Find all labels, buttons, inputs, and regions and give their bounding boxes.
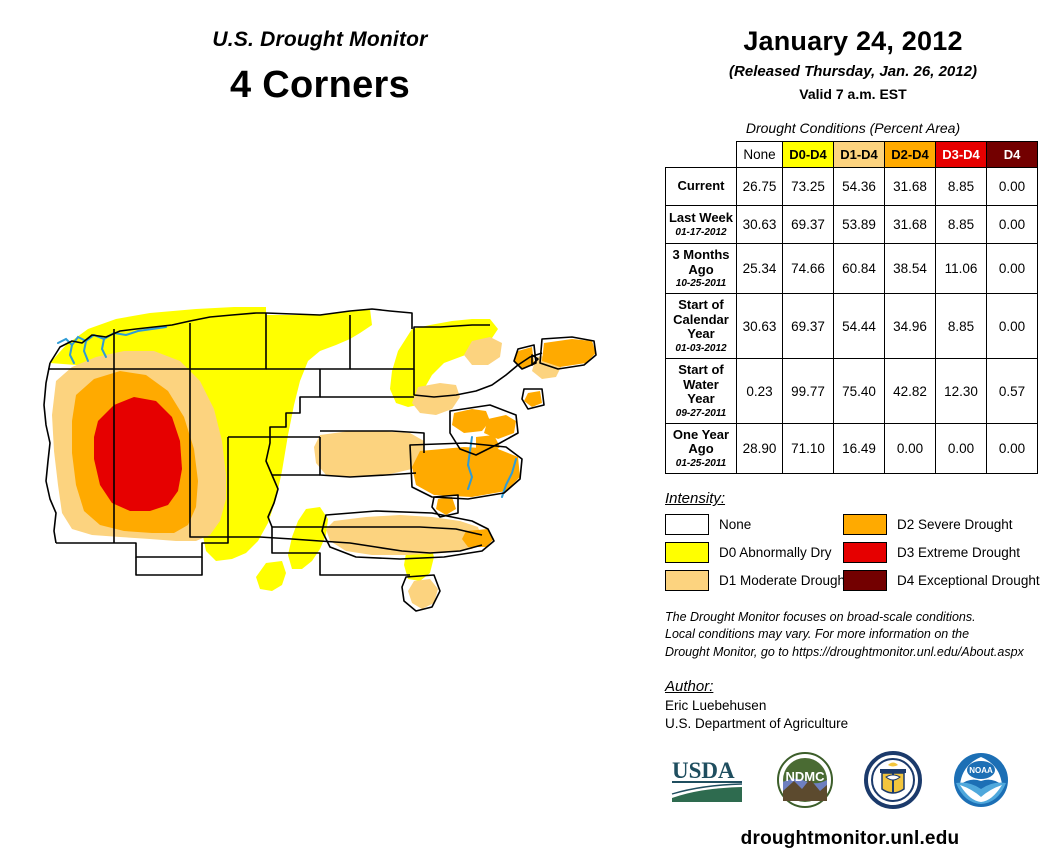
legend-grid: NoneD2 Severe DroughtD0 Abnormally DryD3… bbox=[665, 514, 1046, 591]
table-cell: 26.75 bbox=[737, 168, 783, 206]
author-heading: Author: bbox=[665, 678, 1046, 695]
legend-item: D1 Moderate Drought bbox=[665, 570, 843, 591]
header-d0-d4: D0-D4 bbox=[783, 142, 834, 168]
intensity-heading: Intensity: bbox=[665, 490, 1046, 507]
table-cell: 25.34 bbox=[737, 244, 783, 294]
table-cell: 75.40 bbox=[834, 359, 885, 424]
noaa-logo: NOAA bbox=[952, 751, 1010, 814]
header-blank-cell bbox=[666, 142, 737, 168]
legend-label: D0 Abnormally Dry bbox=[719, 545, 832, 560]
table-cell: 0.00 bbox=[936, 423, 987, 473]
legend-item: D2 Severe Drought bbox=[843, 514, 1043, 535]
row-label-name: One Year Ago bbox=[668, 428, 734, 457]
legend-label: None bbox=[719, 517, 751, 532]
table-cell: 12.30 bbox=[936, 359, 987, 424]
page-title: 4 Corners bbox=[0, 64, 640, 107]
table-cell: 69.37 bbox=[783, 294, 834, 359]
header-d3-d4: D3-D4 bbox=[936, 142, 987, 168]
legend-swatch bbox=[843, 542, 887, 563]
legend-item: D4 Exceptional Drought bbox=[843, 570, 1043, 591]
date-block: January 24, 2012 (Released Thursday, Jan… bbox=[660, 26, 1046, 102]
legend-item: D0 Abnormally Dry bbox=[665, 542, 843, 563]
row-label: Start ofWater Year09-27-2011 bbox=[666, 359, 737, 424]
table-cell: 0.00 bbox=[987, 168, 1038, 206]
table-cell: 0.00 bbox=[987, 423, 1038, 473]
legend-label: D1 Moderate Drought bbox=[719, 573, 849, 588]
table-cell: 42.82 bbox=[885, 359, 936, 424]
release-date: (Released Thursday, Jan. 26, 2012) bbox=[660, 63, 1046, 80]
table-cell: 0.57 bbox=[987, 359, 1038, 424]
row-label-date: 01-17-2012 bbox=[668, 227, 734, 238]
legend-label: D2 Severe Drought bbox=[897, 517, 1013, 532]
table-cell: 69.37 bbox=[783, 206, 834, 244]
row-label-date: 01-03-2012 bbox=[668, 343, 734, 354]
table-cell: 0.23 bbox=[737, 359, 783, 424]
row-label-name: Start ofCalendar Year bbox=[668, 298, 734, 342]
drought-map-svg bbox=[20, 285, 650, 645]
table-cell: 38.54 bbox=[885, 244, 936, 294]
table-cell: 54.36 bbox=[834, 168, 885, 206]
table-cell: 30.63 bbox=[737, 294, 783, 359]
row-label: 3 Months Ago10-25-2011 bbox=[666, 244, 737, 294]
table-cell: 0.00 bbox=[987, 294, 1038, 359]
table-cell: 60.84 bbox=[834, 244, 885, 294]
row-label-date: 10-25-2011 bbox=[668, 278, 734, 289]
commerce-seal bbox=[864, 751, 922, 814]
table-cell: 8.85 bbox=[936, 168, 987, 206]
ndmc-logo: NDMC bbox=[776, 751, 834, 814]
table-cell: 11.06 bbox=[936, 244, 987, 294]
usda-logo: USDA bbox=[670, 754, 746, 811]
site-url: droughtmonitor.unl.edu bbox=[665, 828, 1035, 850]
row-label-name: Start ofWater Year bbox=[668, 363, 734, 407]
row-label-name: 3 Months Ago bbox=[668, 248, 734, 277]
table-cell: 99.77 bbox=[783, 359, 834, 424]
legend-swatch bbox=[665, 570, 709, 591]
table-cell: 34.96 bbox=[885, 294, 936, 359]
header-d4: D4 bbox=[987, 142, 1038, 168]
page-subtitle: U.S. Drought Monitor bbox=[0, 28, 640, 52]
legend-swatch bbox=[843, 570, 887, 591]
header-none: None bbox=[737, 142, 783, 168]
table-row: Start ofWater Year09-27-20110.2399.7775.… bbox=[666, 359, 1038, 424]
header-d2-d4: D2-D4 bbox=[885, 142, 936, 168]
table-cell: 53.89 bbox=[834, 206, 885, 244]
svg-text:NDMC: NDMC bbox=[786, 769, 826, 784]
legend-label: D4 Exceptional Drought bbox=[897, 573, 1040, 588]
table-row: Last Week01-17-201230.6369.3753.8931.688… bbox=[666, 206, 1038, 244]
drought-map bbox=[20, 285, 650, 645]
table-header-row: None D0-D4 D1-D4 D2-D4 D3-D4 D4 bbox=[666, 142, 1038, 168]
row-label-date: 01-25-2011 bbox=[668, 458, 734, 469]
row-label: One Year Ago01-25-2011 bbox=[666, 423, 737, 473]
table-cell: 0.00 bbox=[987, 244, 1038, 294]
drought-conditions-table: None D0-D4 D1-D4 D2-D4 D3-D4 D4 Current2… bbox=[665, 141, 1038, 474]
map-date: January 24, 2012 bbox=[660, 26, 1046, 57]
table-cell: 31.68 bbox=[885, 206, 936, 244]
table-row: Start ofCalendar Year01-03-201230.6369.3… bbox=[666, 294, 1038, 359]
disclaimer-text: The Drought Monitor focuses on broad-sca… bbox=[665, 609, 1046, 661]
header-d1-d4: D1-D4 bbox=[834, 142, 885, 168]
legend-item: None bbox=[665, 514, 843, 535]
row-label-name: Last Week bbox=[668, 211, 734, 226]
table-cell: 8.85 bbox=[936, 206, 987, 244]
legend-item: D3 Extreme Drought bbox=[843, 542, 1043, 563]
row-label-name: Current bbox=[668, 179, 734, 194]
author-org: U.S. Department of Agriculture bbox=[665, 716, 1046, 731]
table-caption: Drought Conditions (Percent Area) bbox=[660, 120, 1046, 136]
table-cell: 54.44 bbox=[834, 294, 885, 359]
svg-text:USDA: USDA bbox=[672, 758, 735, 783]
agency-logos: USDA NDMC bbox=[670, 751, 1010, 814]
valid-time: Valid 7 a.m. EST bbox=[660, 86, 1046, 102]
table-row: One Year Ago01-25-201128.9071.1016.490.0… bbox=[666, 423, 1038, 473]
table-body: Current26.7573.2554.3631.688.850.00Last … bbox=[666, 168, 1038, 474]
table-cell: 0.00 bbox=[885, 423, 936, 473]
legend-label: D3 Extreme Drought bbox=[897, 545, 1020, 560]
svg-text:NOAA: NOAA bbox=[969, 766, 993, 775]
row-label-date: 09-27-2011 bbox=[668, 408, 734, 419]
row-label: Current bbox=[666, 168, 737, 206]
legend-swatch bbox=[665, 514, 709, 535]
author-name: Eric Luebehusen bbox=[665, 698, 1046, 713]
table-cell: 74.66 bbox=[783, 244, 834, 294]
row-label: Start ofCalendar Year01-03-2012 bbox=[666, 294, 737, 359]
table-row: Current26.7573.2554.3631.688.850.00 bbox=[666, 168, 1038, 206]
table-cell: 31.68 bbox=[885, 168, 936, 206]
legend-swatch bbox=[843, 514, 887, 535]
table-cell: 73.25 bbox=[783, 168, 834, 206]
table-cell: 30.63 bbox=[737, 206, 783, 244]
table-row: 3 Months Ago10-25-201125.3474.6660.8438.… bbox=[666, 244, 1038, 294]
table-cell: 16.49 bbox=[834, 423, 885, 473]
title-block: U.S. Drought Monitor 4 Corners bbox=[0, 28, 640, 107]
legend-swatch bbox=[665, 542, 709, 563]
right-panel: January 24, 2012 (Released Thursday, Jan… bbox=[660, 26, 1046, 850]
table-cell: 71.10 bbox=[783, 423, 834, 473]
table-cell: 0.00 bbox=[987, 206, 1038, 244]
table-cell: 8.85 bbox=[936, 294, 987, 359]
map-layer-d3 bbox=[94, 397, 182, 511]
intensity-legend: Intensity: NoneD2 Severe DroughtD0 Abnor… bbox=[665, 490, 1046, 591]
table-cell: 28.90 bbox=[737, 423, 783, 473]
row-label: Last Week01-17-2012 bbox=[666, 206, 737, 244]
